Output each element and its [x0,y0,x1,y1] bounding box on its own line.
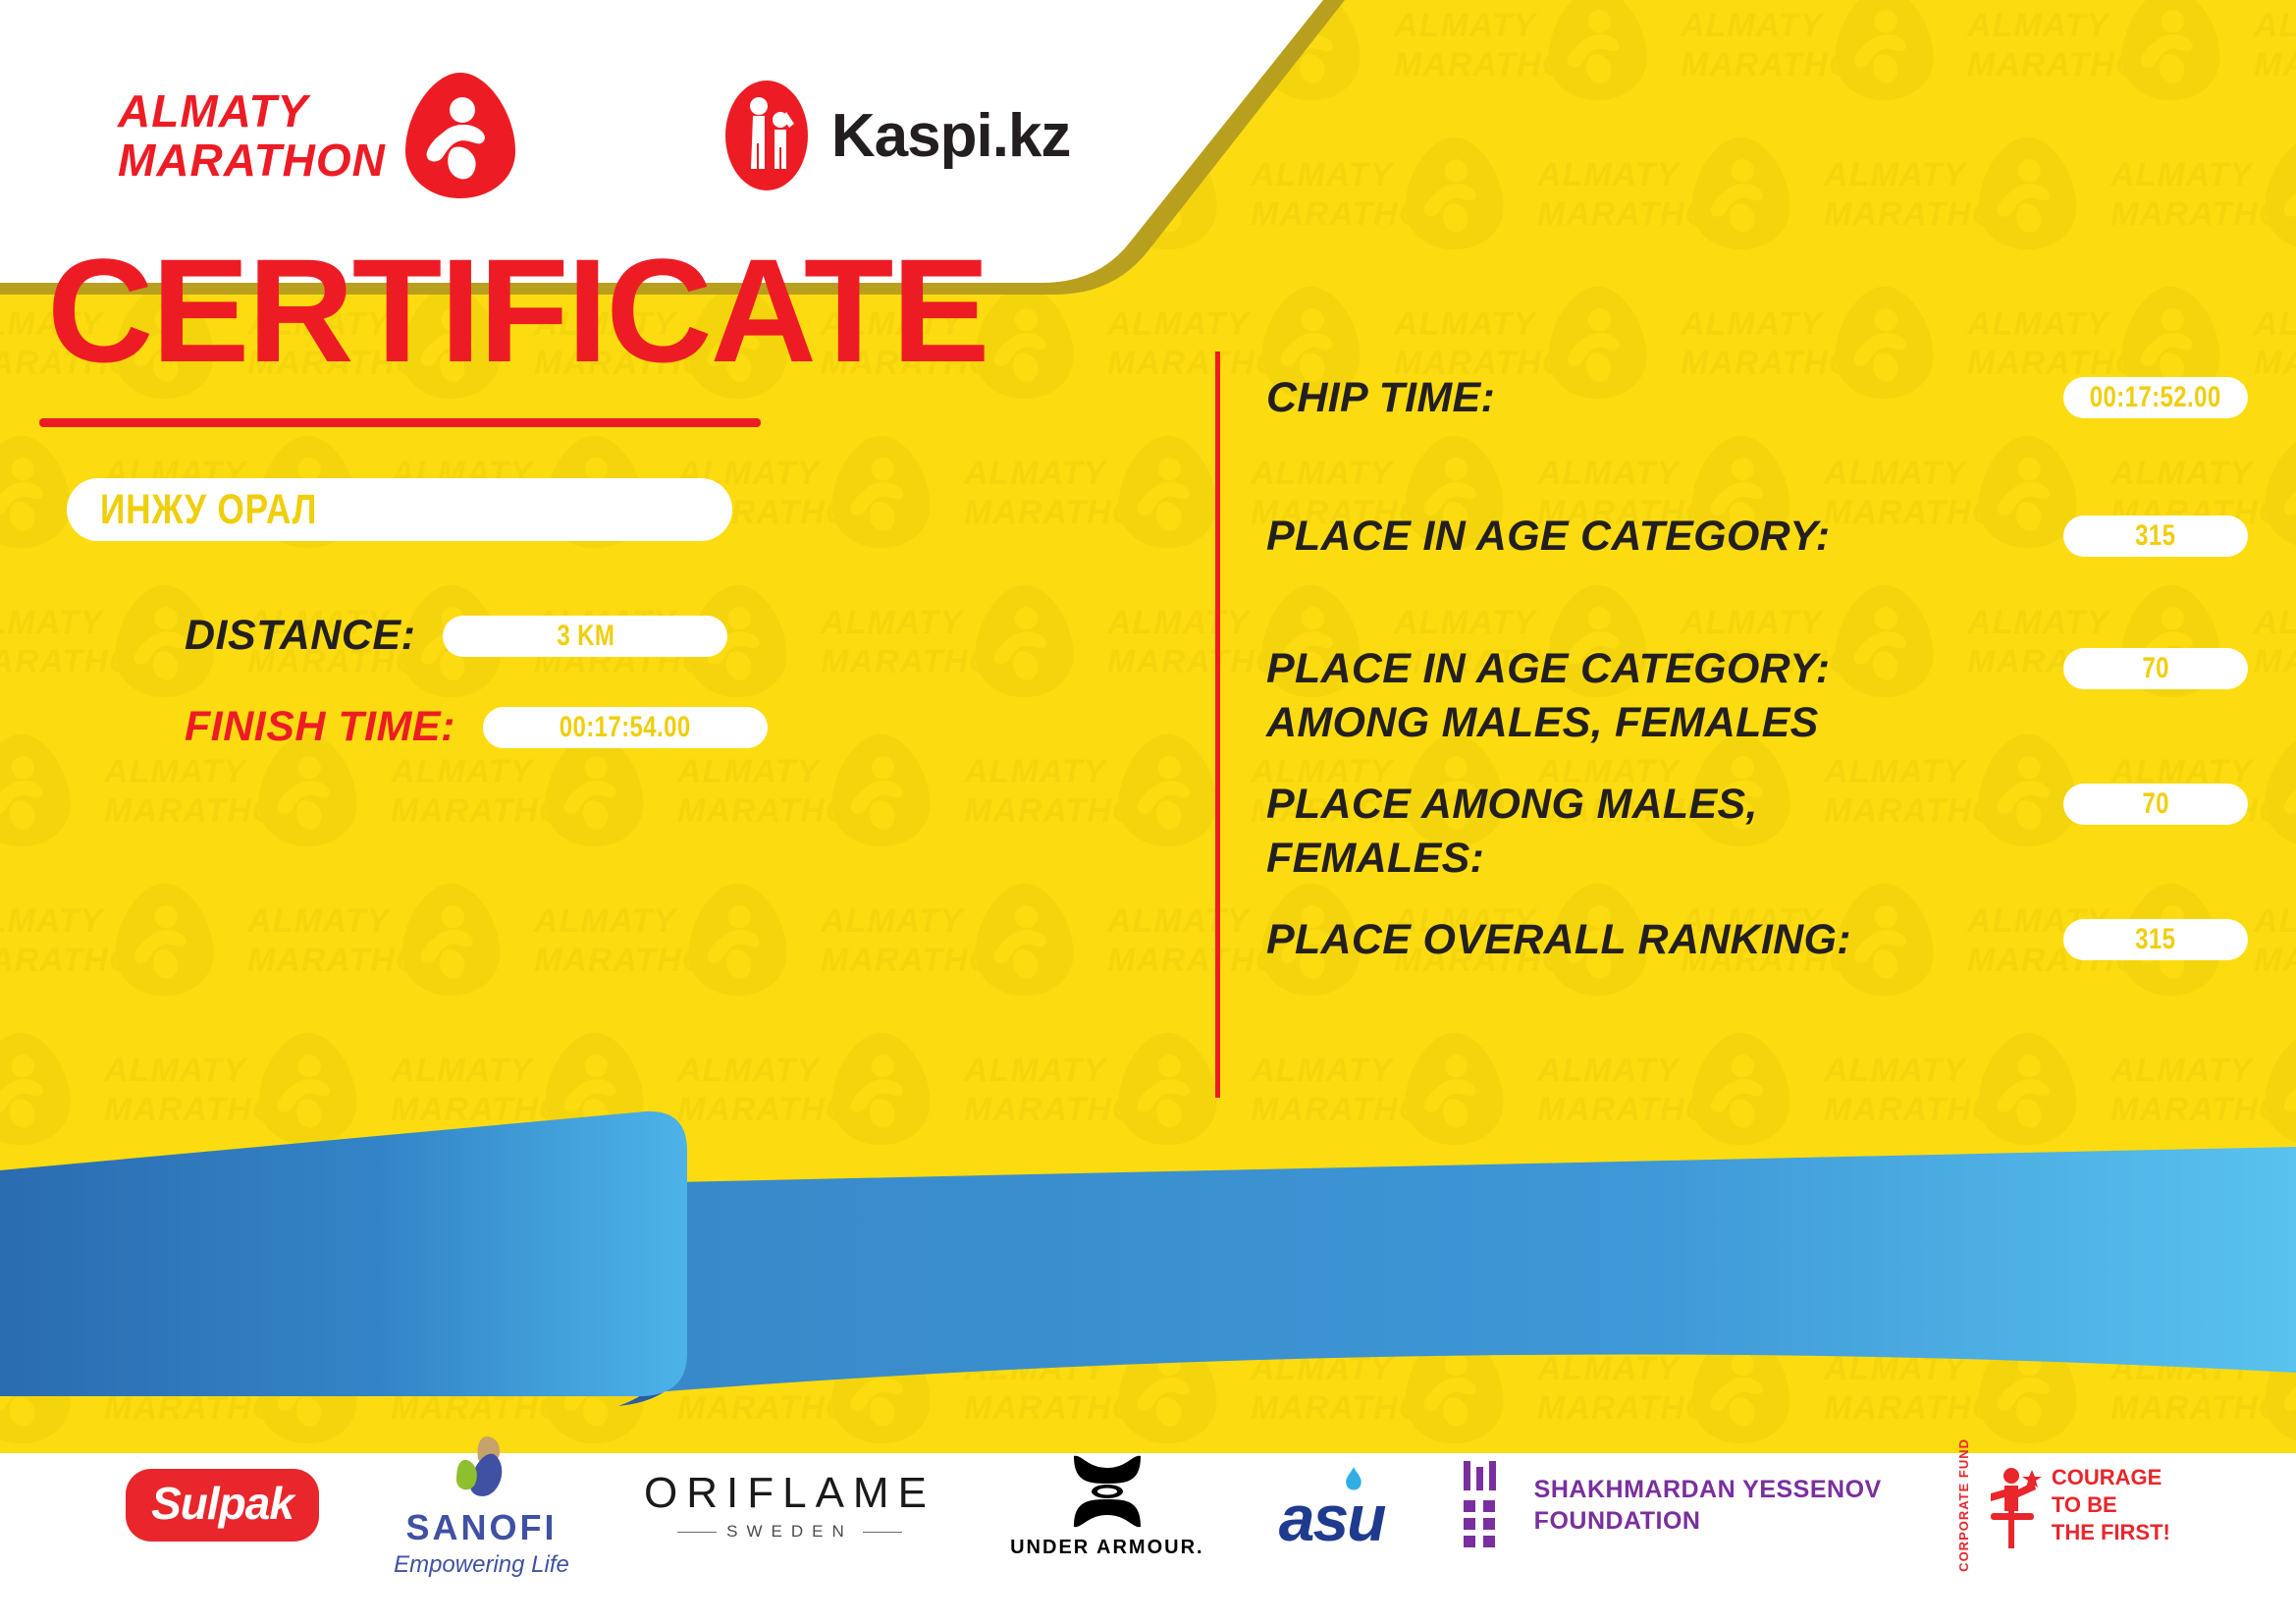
distance-value-pill: 3 KM [443,616,727,657]
watermark-runner-icon [543,1329,646,1445]
sponsor-sanofi-logo: SANOFI Empowering Life [394,1433,569,1579]
sponsor-courage-label: COURAGE TO BE THE FIRST! [2052,1464,2170,1546]
yessenov-bars-icon [1460,1461,1519,1549]
watermark-tile: ALMATY MARATHON [964,1025,1249,1172]
sponsor-oriflame-tagline: SWEDEN [726,1522,853,1542]
watermark-text: ALMATY MARATHON [2254,603,2296,681]
certificate-page: ALMATY MARATHONALMATY MARATHONALMATY MAR… [0,0,2296,1624]
watermark-runner-icon [1689,1329,1792,1445]
distance-value: 3 KM [557,620,614,653]
place-age-category-value: 315 [2135,519,2175,553]
watermark-text: ALMATY MARATHON [2254,901,2296,980]
column-divider [1215,352,1220,1098]
sponsor-sanofi-tagline: Empowering Life [394,1551,569,1579]
watermark-runner-icon [256,1329,359,1445]
watermark-runner-icon [1116,1031,1219,1147]
watermark-runner-icon [400,1180,503,1296]
finish-time-value: 00:17:54.00 [560,711,691,744]
almaty-marathon-wordmark: ALMATY MARATHON [118,86,386,185]
sponsor-under-armour-logo: UNDER ARMOUR. [1010,1452,1203,1559]
place-among-gender-value-pill: 70 [2063,784,2248,825]
place-age-category-label: PLACE IN AGE CATEGORY: [1266,510,2063,564]
sponsor-sulpak-logo: Sulpak [126,1469,319,1542]
right-column: CHIP TIME: 00:17:52.00 PLACE IN AGE CATE… [1266,371,2248,967]
watermark-runner-icon [2263,732,2296,848]
sponsor-asu-label: asu [1279,1481,1385,1555]
almaty-marathon-line2: MARATHON [118,135,386,185]
sponsor-oriflame-logo: ORIFLAME SWEDEN [644,1469,935,1542]
watermark-tile: ALMATY MARATHON [391,1025,675,1172]
watermark-runner-icon [829,1031,933,1147]
sponsor-sulpak-label: Sulpak [151,1477,294,1530]
sponsor-courage-tagline: CORPORATE FUND [1956,1438,1971,1572]
finish-time-label: FINISH TIME: [185,703,455,751]
sponsor-sanofi-label: SANOFI [405,1507,557,1548]
kaspi-mark-icon [723,79,810,192]
sponsor-bar: Sulpak SANOFI Empowering Life ORIFLAME S… [0,1432,2296,1579]
place-age-category-gender-value: 70 [2142,652,2169,685]
oriflame-rule-left [677,1532,717,1533]
watermark-runner-icon [2263,1031,2296,1147]
watermark-tile: ALMATY MARATHON [1394,1174,1679,1322]
sponsor-under-armour-label: UNDER ARMOUR. [1010,1537,1203,1559]
sponsor-courage-logo: CORPORATE FUND COURAGE TO BE THE FIRST! [1956,1438,2170,1572]
watermark-text: ALMATY MARATHON [2254,304,2296,383]
watermark-tile: ALMATY MARATHON [2254,1174,2296,1322]
watermark-tile: ALMATY MARATHON [1967,1174,2252,1322]
certificate-title: CERTIFICATE [47,236,1158,385]
left-column: CERTIFICATE ИНЖУ ОРАЛ DISTANCE: 3 KM FIN… [0,236,1158,751]
sponsor-yessenov-logo: SHAKHMARDAN YESSENOV FOUNDATION [1460,1461,1882,1549]
watermark-tile: ALMATY MARATHON [1251,1025,1535,1172]
watermark-runner-icon [1116,1329,1219,1445]
place-age-category-row: PLACE IN AGE CATEGORY: 315 [1266,510,2248,564]
marathon-runner-icon [403,71,517,200]
watermark-tile: ALMATY MARATHON [2110,1025,2296,1172]
place-age-category-gender-row: PLACE IN AGE CATEGORY: AMONG MALES, FEMA… [1266,642,2248,750]
watermark-tile: ALMATY MARATHON [1681,1174,1965,1322]
watermark-tile: ALMATY MARATHON [247,876,532,1023]
watermark-runner-icon [400,882,503,998]
distance-label: DISTANCE: [185,612,415,660]
asu-droplet-icon [1344,1467,1363,1492]
watermark-runner-icon [1259,1180,1362,1296]
watermark-runner-icon [1976,1329,2079,1445]
kaspi-wordmark: Kaspi.kz [831,101,1071,171]
place-age-category-value-pill: 315 [2063,515,2248,557]
watermark-runner-icon [686,1180,789,1296]
place-overall-value-pill: 315 [2063,919,2248,960]
watermark-runner-icon [2263,1329,2296,1445]
courage-figure-icon [1979,1460,2044,1550]
watermark-tile: ALMATY MARATHON [1107,1174,1392,1322]
watermark-runner-icon [1403,1031,1506,1147]
watermark-tile: ALMATY MARATHON [0,1174,245,1322]
watermark-runner-icon [829,1329,933,1445]
place-age-category-gender-label: PLACE IN AGE CATEGORY: AMONG MALES, FEMA… [1266,642,2063,750]
watermark-runner-icon [1833,1180,1936,1296]
watermark-tile: ALMATY MARATHON [247,1174,532,1322]
watermark-tile: ALMATY MARATHON [104,1025,389,1172]
watermark-runner-icon [2119,1180,2222,1296]
title-underline [39,418,761,427]
distance-row: DISTANCE: 3 KM [185,612,1158,660]
watermark-tile: ALMATY MARATHON [677,1025,962,1172]
chip-time-value: 00:17:52.00 [2090,381,2221,414]
place-overall-row: PLACE OVERALL RANKING: 315 [1266,913,2248,967]
watermark-tile: ALMATY MARATHON [2254,577,2296,725]
place-overall-label: PLACE OVERALL RANKING: [1266,913,2063,967]
chip-time-label: CHIP TIME: [1266,371,2063,425]
watermark-tile: ALMATY MARATHON [1537,1025,1822,1172]
finish-time-row: FINISH TIME: 00:17:54.00 [185,703,1158,751]
watermark-runner-icon [113,1180,216,1296]
watermark-runner-icon [1403,1329,1506,1445]
watermark-tile: ALMATY MARATHON [2254,876,2296,1023]
sanofi-mark-icon [447,1433,515,1507]
finish-time-value-pill: 00:17:54.00 [483,707,768,748]
place-among-gender-row: PLACE AMONG MALES, FEMALES: 70 [1266,778,2248,886]
oriflame-rule-right [863,1532,902,1533]
kaspi-logo: Kaspi.kz [723,79,1071,192]
watermark-runner-icon [686,882,789,998]
sponsor-oriflame-tagline-wrap: SWEDEN [644,1522,935,1542]
place-age-category-gender-value-pill: 70 [2063,648,2248,689]
watermark-tile: ALMATY MARATHON [821,876,1105,1023]
watermark-tile: ALMATY MARATHON [534,1174,819,1322]
sponsor-oriflame-label: ORIFLAME [644,1469,935,1518]
watermark-runner-icon [0,1329,73,1445]
watermark-runner-icon [0,1031,73,1147]
watermark-tile: ALMATY MARATHON [821,1174,1105,1322]
header-logos: ALMATY MARATHON [118,71,1070,200]
sponsor-yessenov-label: SHAKHMARDAN YESSENOV FOUNDATION [1534,1474,1882,1537]
watermark-tile: ALMATY MARATHON [0,1025,102,1172]
watermark-runner-icon [973,1180,1076,1296]
place-among-gender-label: PLACE AMONG MALES, FEMALES: [1266,778,2063,886]
watermark-tile: ALMATY MARATHON [2254,279,2296,426]
watermark-runner-icon [256,1031,359,1147]
watermark-tile: ALMATY MARATHON [1824,1025,2109,1172]
watermark-runner-icon [973,882,1076,998]
participant-name-value: ИНЖУ ОРАЛ [100,486,317,534]
participant-name-field: ИНЖУ ОРАЛ [67,478,732,541]
watermark-runner-icon [113,882,216,998]
watermark-runner-icon [2263,434,2296,550]
chip-time-row: CHIP TIME: 00:17:52.00 [1266,371,2248,425]
place-overall-value: 315 [2135,923,2175,956]
watermark-runner-icon [543,1031,646,1147]
watermark-text: ALMATY MARATHON [2254,1200,2296,1278]
sponsor-asu-logo: asu [1279,1455,1385,1555]
watermark-runner-icon [1546,1180,1649,1296]
place-among-gender-value: 70 [2142,787,2169,821]
watermark-runner-icon [1689,1031,1792,1147]
chip-time-value-pill: 00:17:52.00 [2063,377,2248,418]
watermark-tile: ALMATY MARATHON [534,876,819,1023]
under-armour-mark-icon [1060,1452,1154,1531]
almaty-marathon-line1: ALMATY [118,86,386,135]
watermark-tile: ALMATY MARATHON [0,876,245,1023]
watermark-runner-icon [1976,1031,2079,1147]
almaty-marathon-logo: ALMATY MARATHON [118,71,517,200]
